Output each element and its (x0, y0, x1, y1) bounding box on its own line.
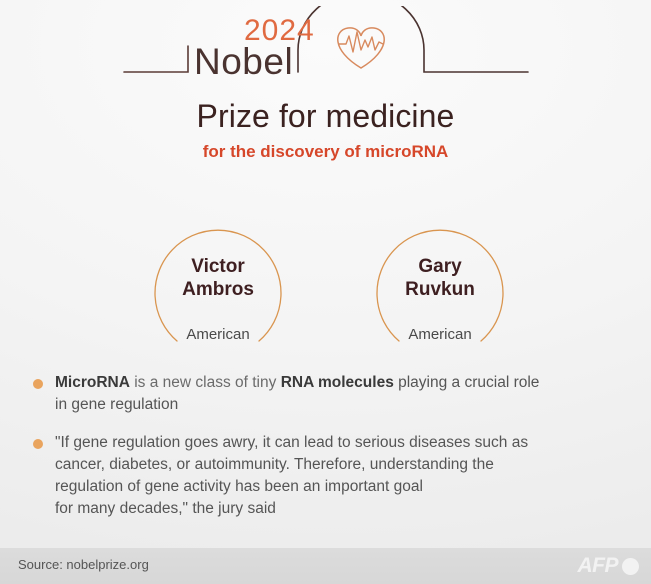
page-subtitle: for the discovery of microRNA (0, 142, 651, 162)
fact-text: MicroRNA is a new class of tiny RNA mole… (55, 372, 630, 416)
afp-dot-icon (622, 558, 639, 575)
nobel-logo-svg: Nobel 2024 (116, 6, 536, 84)
bullet-dot-icon (33, 379, 43, 389)
quote-text: "If gene regulation goes awry, it can le… (55, 432, 630, 520)
list-item: "If gene regulation goes awry, it can le… (30, 432, 630, 520)
laureate-name: Victor Ambros (107, 255, 329, 301)
laureate-gary-ruvkun: Gary Ruvkun American (329, 203, 551, 363)
page-title: Prize for medicine (0, 98, 651, 135)
laureates-section: Victor Ambros American Gary Ruvkun Ameri… (0, 203, 651, 363)
nobel-logo: Nobel 2024 (0, 6, 651, 84)
footer-bar: Source: nobelprize.org AFP (0, 548, 651, 584)
heart-ekg-icon (337, 28, 383, 68)
nobel-prize-infographic: Nobel 2024 Prize for medicine for the di… (0, 0, 651, 584)
logo-wordmark: Nobel (194, 41, 293, 82)
laureate-country: American (107, 326, 329, 343)
logo-line-left (124, 46, 188, 72)
laureate-country: American (329, 326, 551, 343)
afp-wordmark: AFP (578, 554, 619, 578)
source-label: Source: nobelprize.org (18, 557, 149, 572)
laureate-name: Gary Ruvkun (329, 255, 551, 301)
bullet-dot-icon (33, 439, 43, 449)
logo-arch (298, 6, 528, 72)
facts-list: MicroRNA is a new class of tiny RNA mole… (30, 372, 630, 536)
list-item: MicroRNA is a new class of tiny RNA mole… (30, 372, 630, 416)
laureate-victor-ambros: Victor Ambros American (107, 203, 329, 363)
logo-year: 2024 (244, 14, 315, 47)
afp-logo: AFP (578, 554, 640, 578)
